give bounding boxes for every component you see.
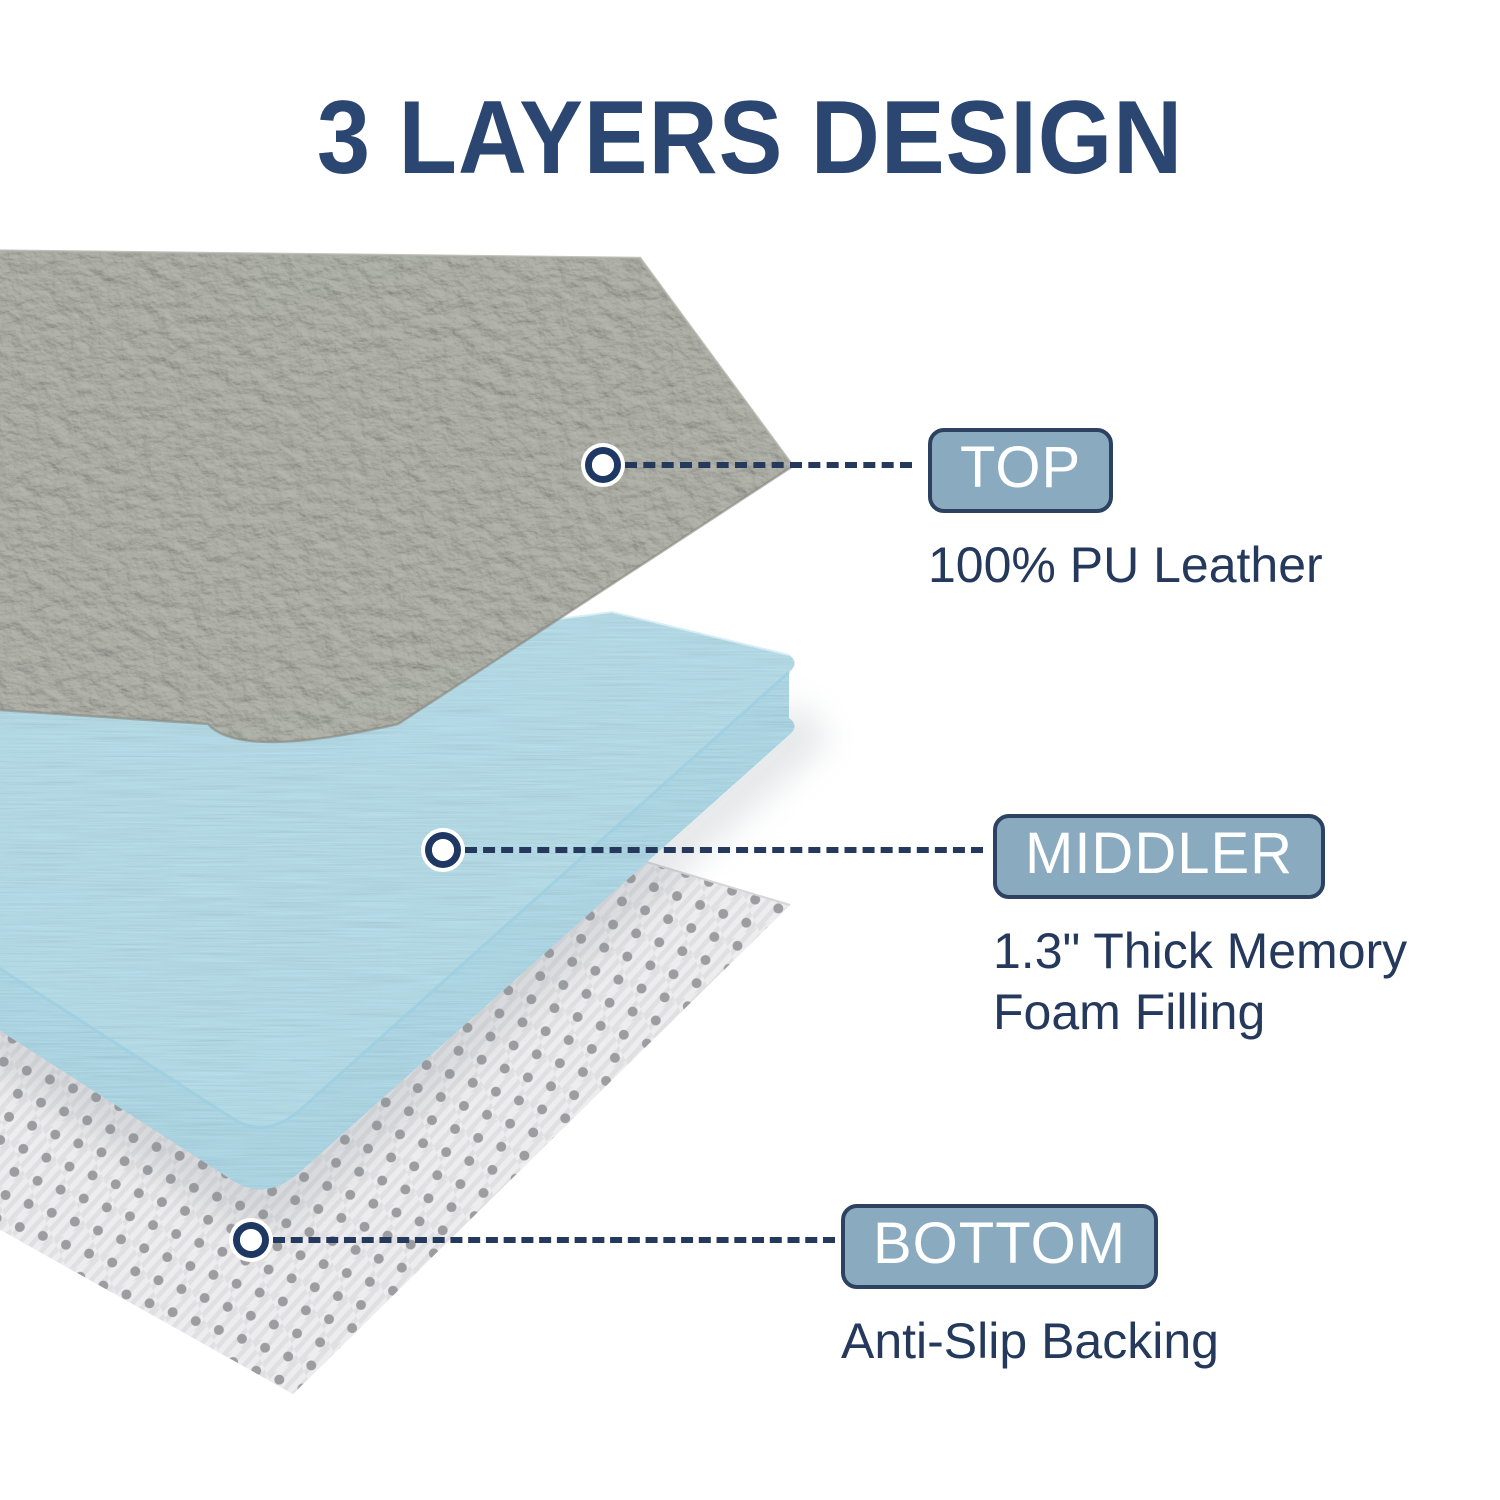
badge-bottom: BOTTOM — [841, 1204, 1158, 1289]
infographic-page: 3 LAYERS DESIGN TOP 100% PU Leather MIDD… — [0, 0, 1500, 1500]
leader-line-bottom — [273, 1237, 835, 1243]
callout-marker-bottom[interactable] — [229, 1218, 273, 1262]
description-middler: 1.3" Thick Memory Foam Filling — [993, 921, 1407, 1043]
page-title: 3 LAYERS DESIGN — [60, 86, 1440, 190]
three-layer-exploded-illustration — [0, 0, 1500, 1500]
callout-middler: MIDDLER 1.3" Thick Memory Foam Filling — [993, 814, 1407, 1043]
badge-top: TOP — [928, 428, 1113, 513]
leader-line-top — [625, 462, 912, 468]
callout-marker-top[interactable] — [581, 443, 625, 487]
callout-marker-middler[interactable] — [421, 828, 465, 872]
callout-bottom: BOTTOM Anti-Slip Backing — [841, 1204, 1219, 1372]
badge-middler: MIDDLER — [993, 814, 1325, 899]
leader-line-middler — [465, 847, 983, 853]
description-bottom: Anti-Slip Backing — [841, 1311, 1219, 1372]
callout-top: TOP 100% PU Leather — [928, 428, 1323, 596]
description-top: 100% PU Leather — [928, 535, 1323, 596]
